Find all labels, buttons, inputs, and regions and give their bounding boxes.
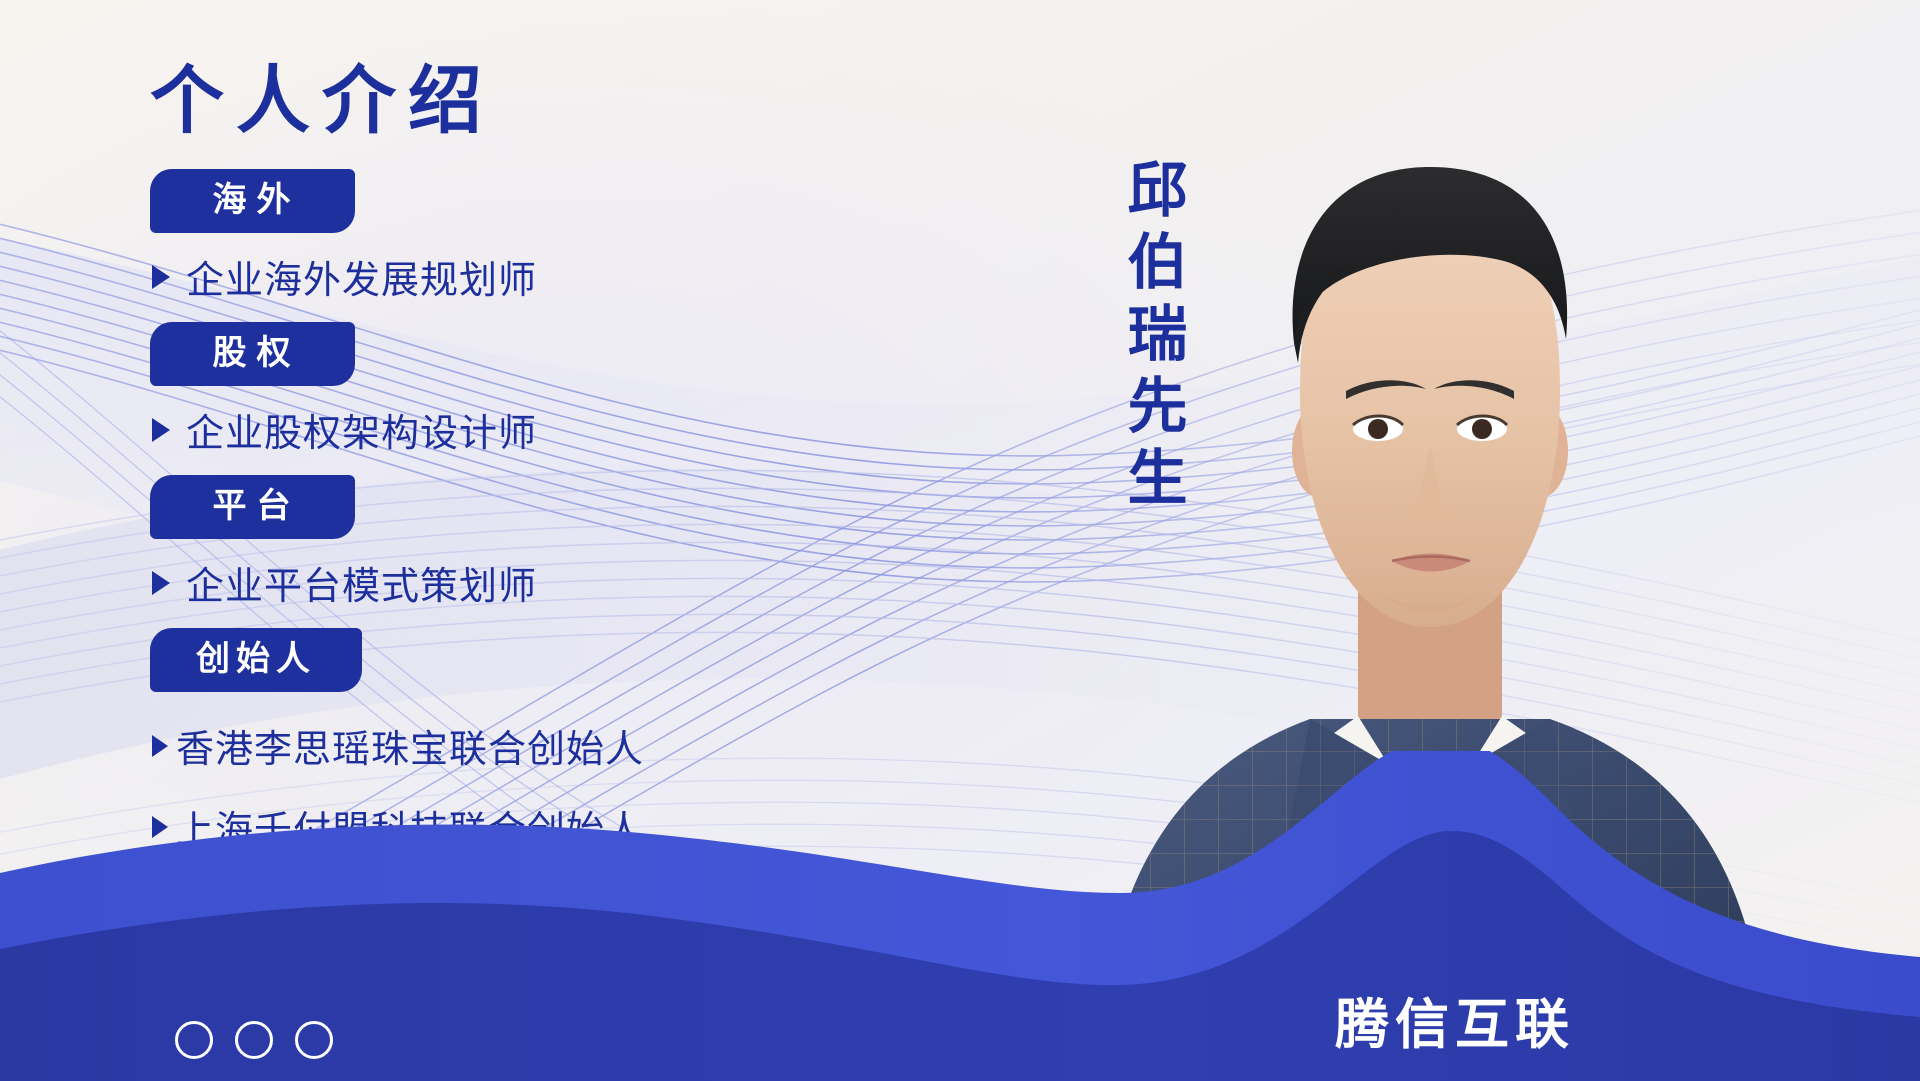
section-overseas: 海外 企业海外发展规划师 [150,169,910,304]
badge-overseas: 海外 [150,169,355,233]
badge-founder: 创始人 [150,628,362,692]
list-item-label: 上海千付盟科技联合创始人 [176,799,644,854]
list-item-label: 香港李思瑶珠宝联合创始人 [176,718,644,773]
portrait-photo [980,71,1880,1081]
circle-outline-icon[interactable] [175,1021,213,1059]
list-item-label: 企业海外发展规划师 [186,249,537,304]
slide-canvas: 个人介绍 海外 企业海外发展规划师 股权 企业股权架构设计师 平台 企业平台模式… [0,0,1920,1081]
triangle-right-icon [152,571,170,595]
circle-outline-icon[interactable] [295,1021,333,1059]
section-platform: 平台 企业平台模式策划师 [150,475,910,610]
brand-logo-text: 腾信互联 [1335,980,1575,1059]
list-item: 香港李思瑶珠宝联合创始人 [152,718,910,773]
section-equity: 股权 企业股权架构设计师 [150,322,910,457]
triangle-right-icon [152,418,170,442]
list-item: 上海千付盟科技联合创始人 [152,799,910,854]
badge-equity: 股权 [150,322,355,386]
triangle-right-icon [152,735,168,757]
triangle-right-icon [152,816,168,838]
intro-content: 个人介绍 海外 企业海外发展规划师 股权 企业股权架构设计师 平台 企业平台模式… [150,60,910,880]
circle-outline-icon[interactable] [235,1021,273,1059]
list-item: 企业股权架构设计师 [152,402,910,457]
pagination-dots[interactable] [175,1021,333,1059]
badge-platform: 平台 [150,475,355,539]
list-item-label: 企业股权架构设计师 [186,402,537,457]
list-item: 企业平台模式策划师 [152,555,910,610]
section-founder: 创始人 香港李思瑶珠宝联合创始人 上海千付盟科技联合创始人 [150,628,910,854]
list-item-label: 企业平台模式策划师 [186,555,537,610]
page-title: 个人介绍 [150,60,910,141]
person-name: 邱伯瑞先生 [1122,158,1182,518]
list-item: 企业海外发展规划师 [152,249,910,304]
triangle-right-icon [152,265,170,289]
founder-list: 香港李思瑶珠宝联合创始人 上海千付盟科技联合创始人 [150,718,910,854]
